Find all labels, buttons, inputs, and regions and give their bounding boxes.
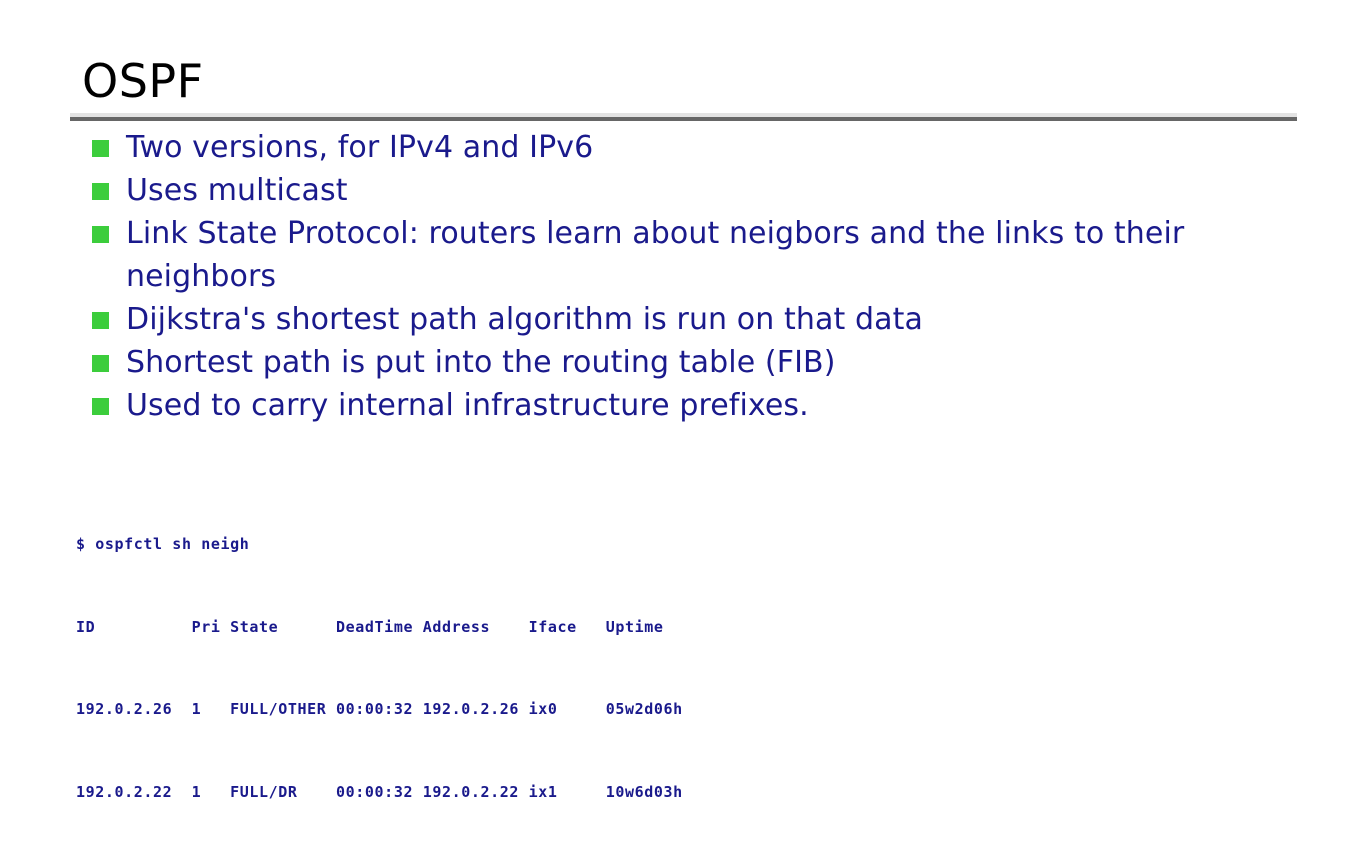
square-bullet-icon: [92, 226, 109, 243]
list-item-text: Uses multicast: [126, 173, 348, 208]
console-output: $ ospfctl sh neigh ID Pri State DeadTime…: [76, 476, 683, 861]
list-item: Two versions, for IPv4 and IPv6: [92, 126, 1312, 169]
square-bullet-icon: [92, 140, 109, 157]
list-item-text: Dijkstra's shortest path algorithm is ru…: [126, 302, 923, 337]
title-divider-dark: [70, 117, 1297, 121]
square-bullet-icon: [92, 398, 109, 415]
list-item-text: Shortest path is put into the routing ta…: [126, 345, 836, 380]
bullet-list: Two versions, for IPv4 and IPv6 Uses mul…: [92, 126, 1312, 427]
list-item-text: Two versions, for IPv4 and IPv6: [126, 130, 593, 165]
square-bullet-icon: [92, 355, 109, 372]
list-item: Shortest path is put into the routing ta…: [92, 341, 1312, 384]
slide-canvas: OSPF Two versions, for IPv4 and IPv6 Use…: [0, 0, 1366, 768]
table-row: 192.0.2.22 1 FULL/DR 00:00:32 192.0.2.22…: [76, 779, 683, 807]
list-item: Dijkstra's shortest path algorithm is ru…: [92, 298, 1312, 341]
square-bullet-icon: [92, 183, 109, 200]
list-item: Uses multicast: [92, 169, 1312, 212]
title-divider: [70, 113, 1297, 121]
table-row: 192.0.2.26 1 FULL/OTHER 00:00:32 192.0.2…: [76, 696, 683, 724]
page-title: OSPF: [82, 58, 204, 104]
console-prompt-line: $ ospfctl sh neigh: [76, 531, 683, 559]
list-item-text: Used to carry internal infrastructure pr…: [126, 388, 809, 423]
square-bullet-icon: [92, 312, 109, 329]
list-item-text: Link State Protocol: routers learn about…: [126, 216, 1184, 294]
console-header-row: ID Pri State DeadTime Address Iface Upti…: [76, 614, 683, 642]
list-item: Used to carry internal infrastructure pr…: [92, 384, 1312, 427]
list-item: Link State Protocol: routers learn about…: [92, 212, 1312, 298]
